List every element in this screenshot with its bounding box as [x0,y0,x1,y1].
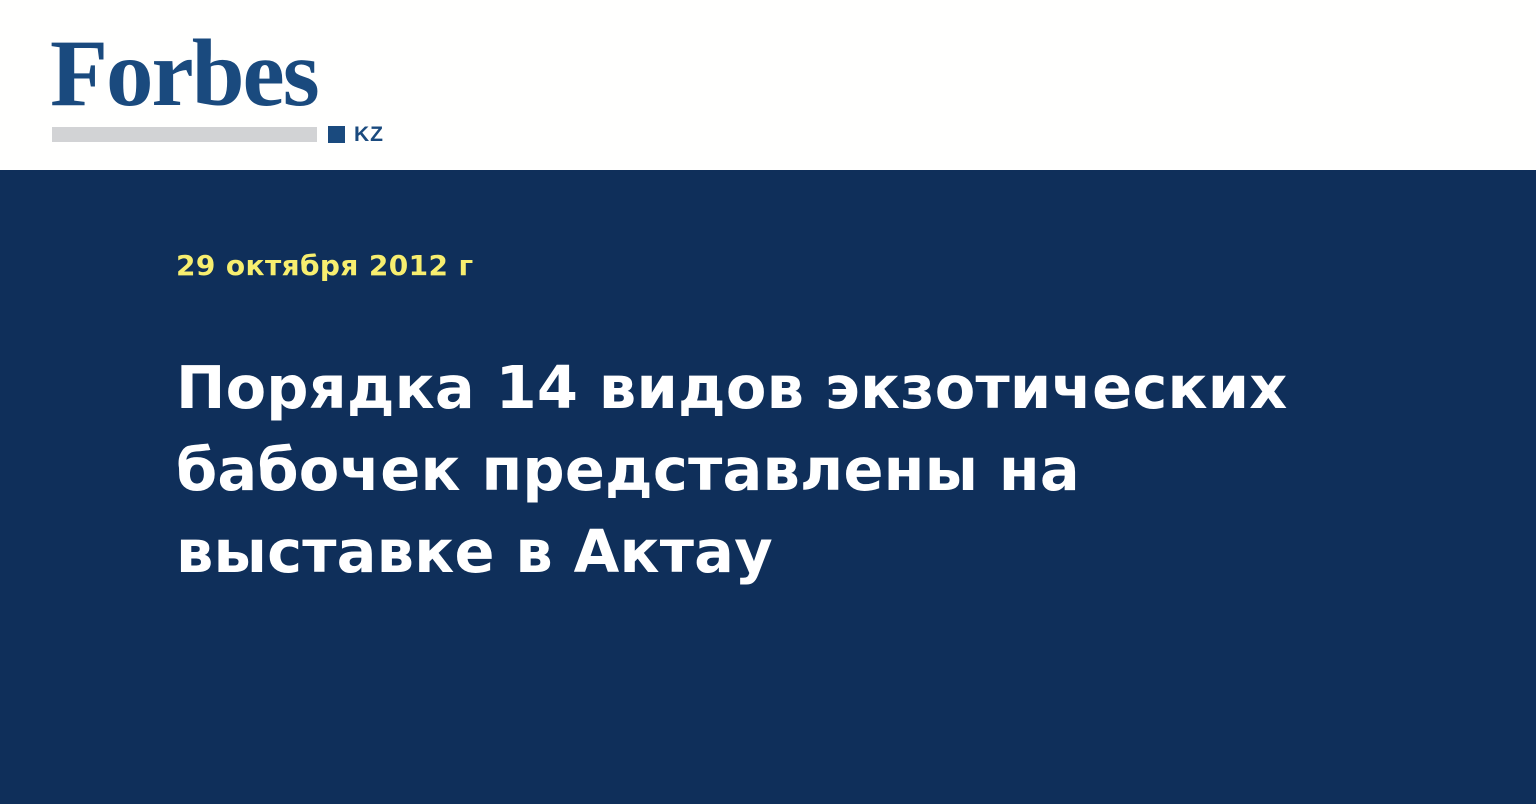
blue-square-icon [328,126,345,143]
article-hero: 29 октября 2012 г Порядка 14 видов экзот… [0,170,1536,804]
article-date: 29 октября 2012 г [176,251,474,281]
logo-kz-suffix: KZ [354,124,384,145]
forbes-wordmark: Forbes [50,26,410,122]
forbes-kz-logo[interactable]: Forbes KZ [50,26,410,144]
article-page: Forbes KZ 29 октября 2012 г Порядка 14 в… [0,0,1536,804]
article-headline: Порядка 14 видов экзотических бабочек пр… [176,347,1336,593]
site-header: Forbes KZ [0,0,1536,170]
gray-rule-icon [52,127,317,142]
logo-under-row: KZ [52,124,412,146]
